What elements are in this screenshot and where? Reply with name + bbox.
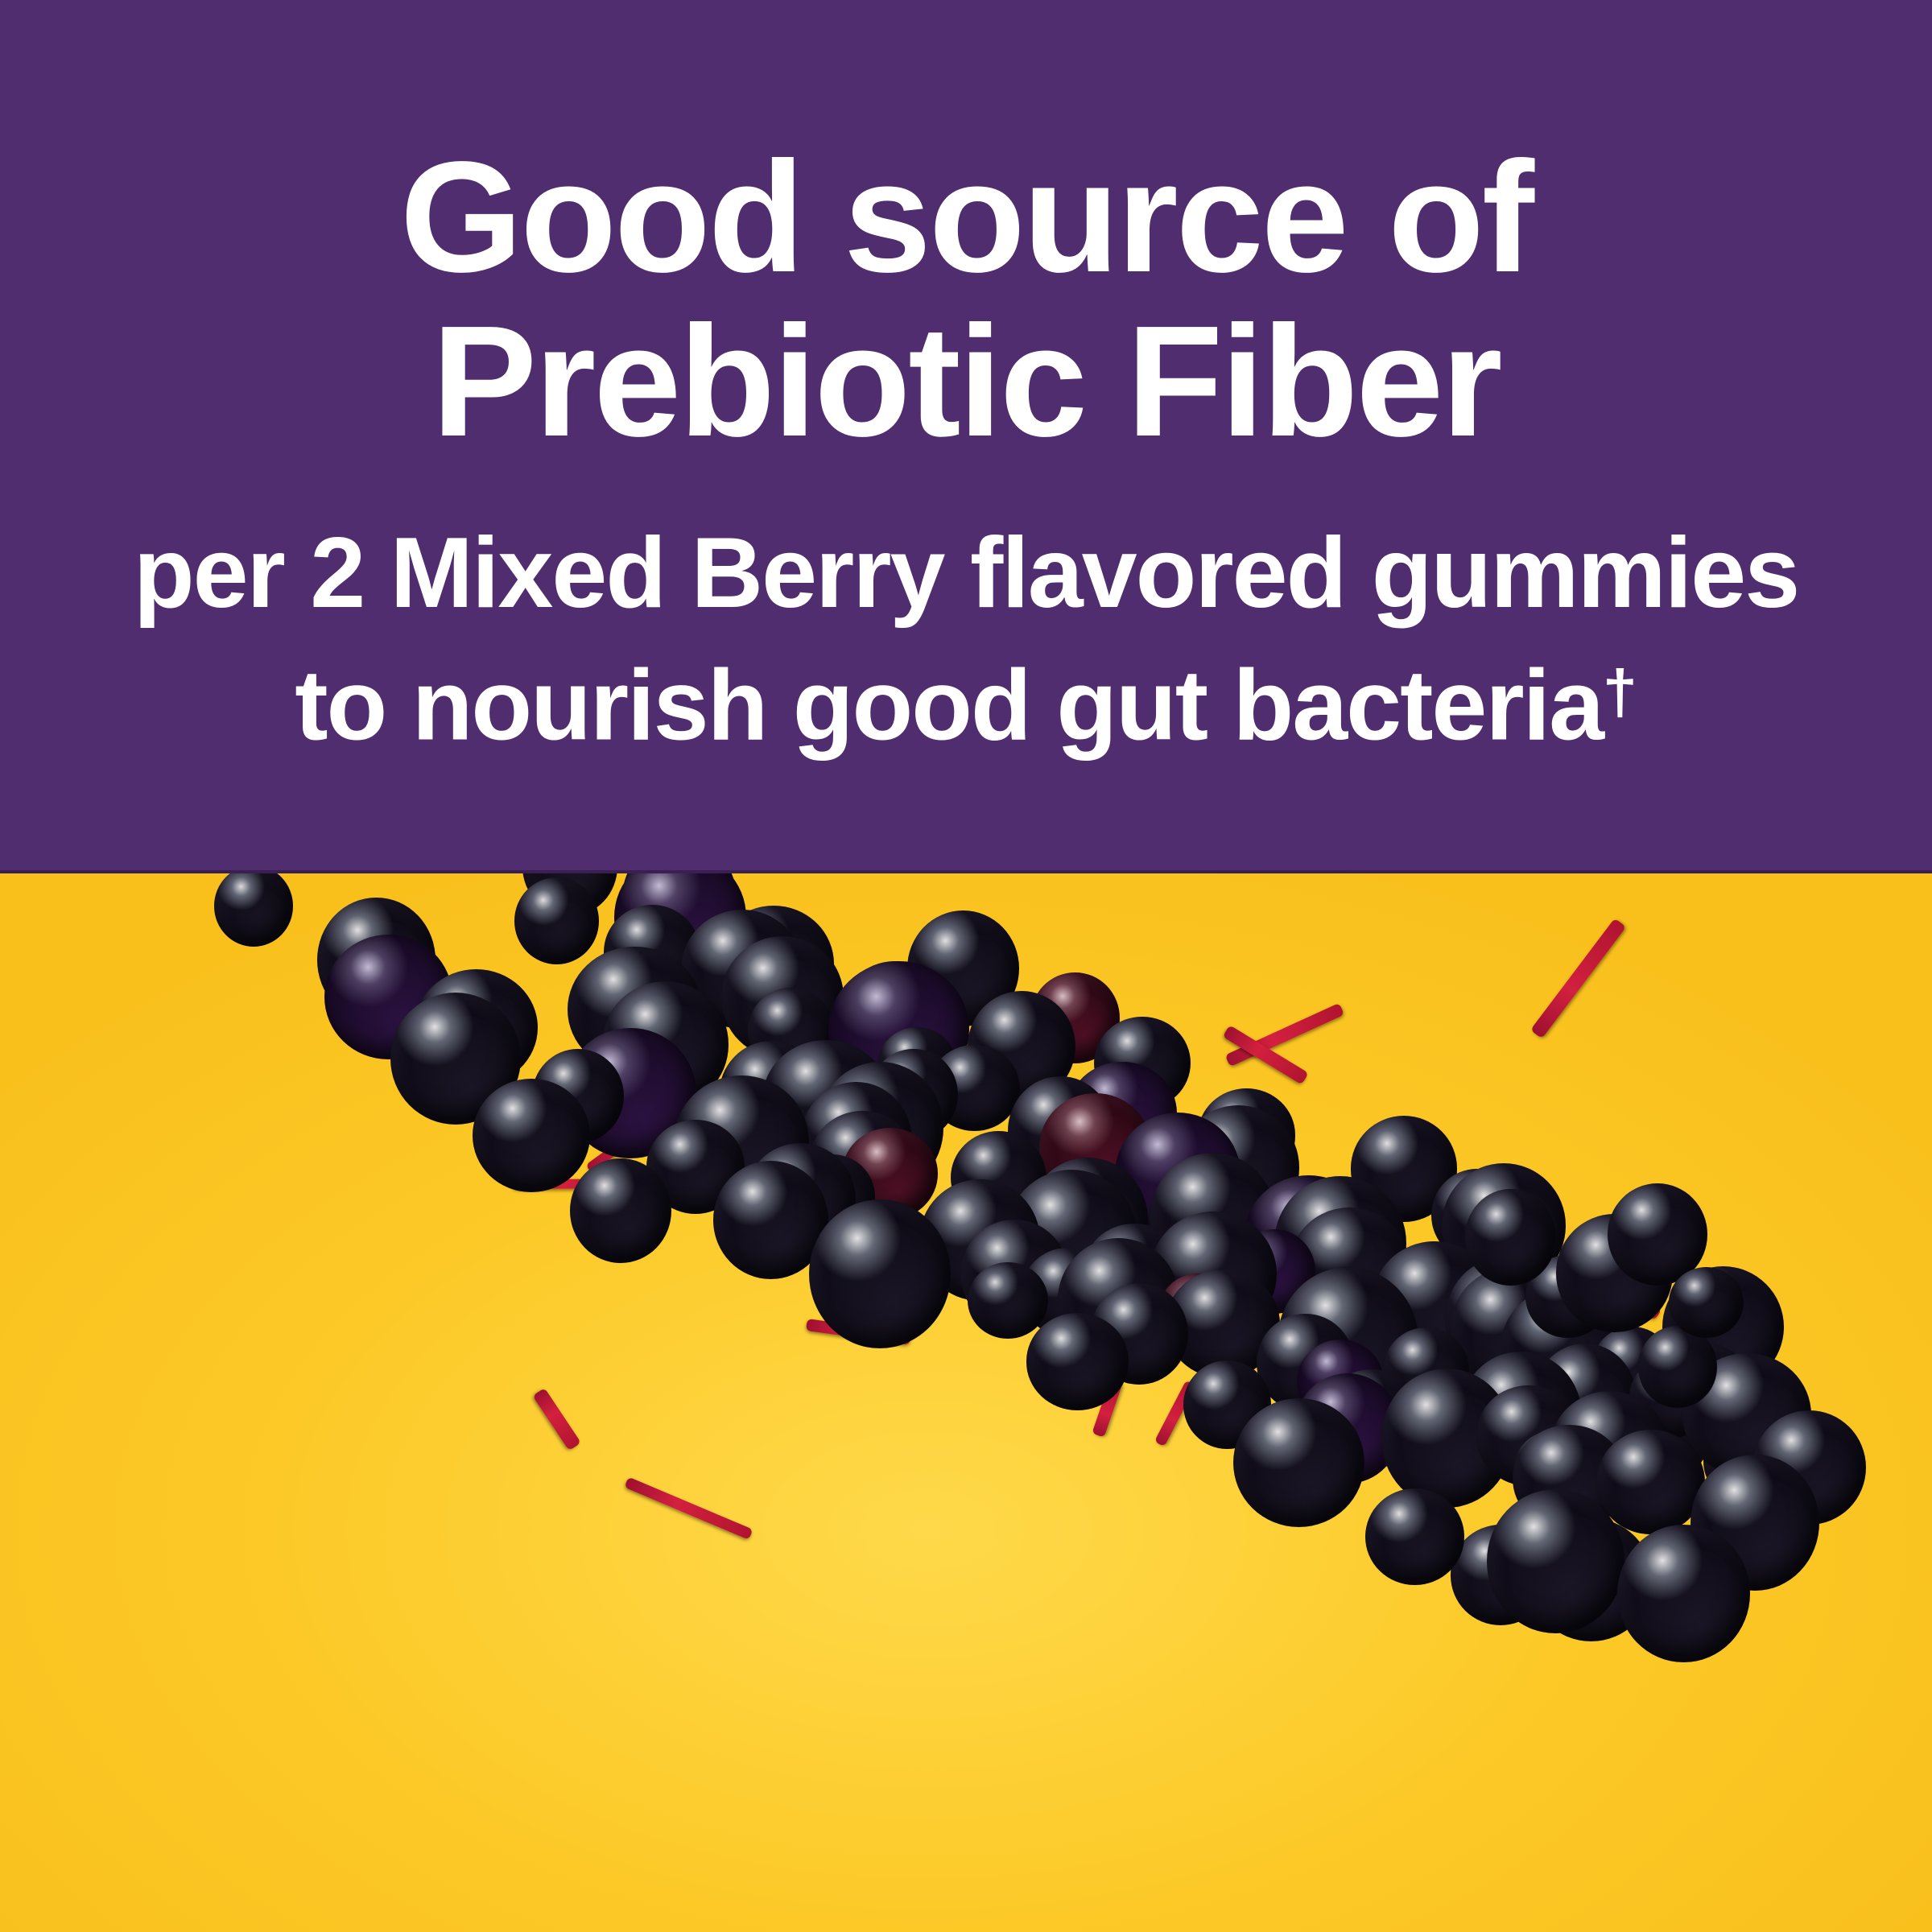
elderberry xyxy=(1638,1326,1717,1407)
elderberry-cluster xyxy=(394,873,1811,1755)
elderberry xyxy=(1465,1189,1557,1286)
subheadline: per 2 Mixed Berry flavored gummies to no… xyxy=(0,514,1932,765)
elderberry xyxy=(570,1158,671,1263)
elderberry xyxy=(214,873,293,947)
page-title: Good source of Prebiotic Fiber xyxy=(0,135,1932,464)
product-marketing-panel: Good source of Prebiotic Fiber per 2 Mix… xyxy=(0,0,1932,1932)
headline-line-1: Good source of xyxy=(0,135,1932,299)
headline-line-2: Prebiotic Fiber xyxy=(0,299,1932,464)
elderberry xyxy=(1669,1267,1744,1338)
elderberry xyxy=(1233,1398,1364,1527)
elderberry-stem xyxy=(533,1388,582,1451)
elderberry xyxy=(968,1262,1048,1339)
product-photo-stage: †This statement has not been evaluated b… xyxy=(0,873,1932,1932)
header-band: Good source of Prebiotic Fiber per 2 Mix… xyxy=(0,0,1932,873)
elderberry-stem xyxy=(624,1477,753,1541)
elderberry xyxy=(1596,1430,1705,1534)
elderberry xyxy=(1487,1489,1625,1634)
subheadline-line-2: to nourish good gut bacteria† xyxy=(0,633,1932,765)
elderberry xyxy=(514,877,599,964)
dagger-footnote-marker: † xyxy=(1603,658,1637,727)
elderberry xyxy=(809,1199,952,1348)
subheadline-line-2-text: to nourish good gut bacteria xyxy=(295,650,1603,761)
elderberry-stem xyxy=(1530,918,1626,1038)
subheadline-line-1: per 2 Mixed Berry flavored gummies xyxy=(0,514,1932,633)
elderberry xyxy=(473,1079,590,1192)
elderberry xyxy=(1617,1525,1749,1662)
elderberry xyxy=(1026,1313,1129,1410)
elderberry xyxy=(1365,1488,1464,1586)
